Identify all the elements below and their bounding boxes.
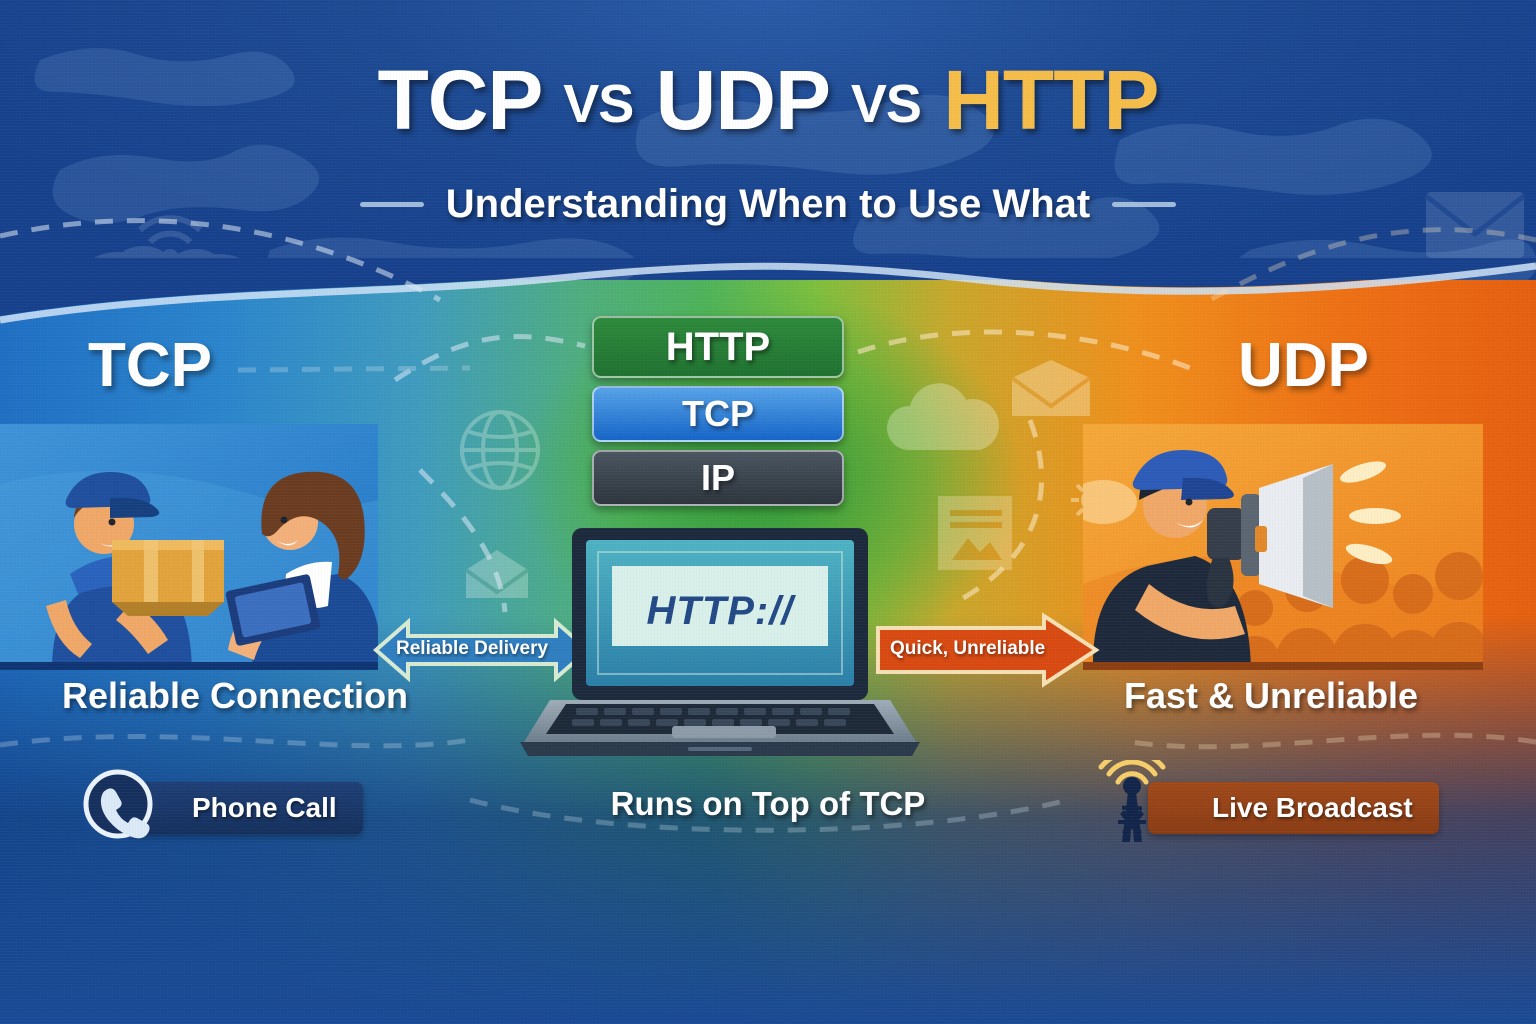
phone-call-badge-label: Phone Call <box>192 792 337 824</box>
subtitle-rule-left <box>360 202 424 207</box>
phone-icon <box>82 768 154 840</box>
title-vs-1: VS <box>563 74 633 134</box>
udp-panel-heading: UDP <box>1238 330 1369 401</box>
udp-zone-label: Fast & Unreliable <box>1124 675 1418 717</box>
title-part-tcp: TCP <box>377 53 540 147</box>
subtitle-rule-right <box>1112 202 1176 207</box>
laptop-illustration <box>520 528 920 760</box>
stack-layer-http[interactable]: HTTP <box>592 316 844 378</box>
tcp-zone-label: Reliable Connection <box>62 675 408 717</box>
globe-icon <box>455 405 545 495</box>
page-title: TCP VS UDP VS HTTP <box>0 52 1536 149</box>
megaphone-illustration <box>1083 424 1483 670</box>
protocol-stack: HTTP TCP IP <box>592 316 844 514</box>
title-vs-2: VS <box>851 74 921 134</box>
broadcast-tower-icon <box>1092 760 1172 844</box>
subtitle-row: Understanding When to Use What <box>0 182 1536 227</box>
infographic-canvas: TCP VS UDP VS HTTP Understanding When to… <box>0 0 1536 1024</box>
live-broadcast-badge[interactable]: Live Broadcast <box>1148 782 1439 834</box>
title-part-udp: UDP <box>656 53 829 147</box>
stack-layer-ip[interactable]: IP <box>592 450 844 506</box>
envelope-icon <box>1008 358 1094 424</box>
page-subtitle: Understanding When to Use What <box>446 182 1090 227</box>
stack-layer-tcp[interactable]: TCP <box>592 386 844 442</box>
tcp-panel-heading: TCP <box>88 330 212 401</box>
laptop-screen-url: HTTP:// <box>612 585 828 637</box>
cloud-icon <box>880 378 1010 460</box>
live-broadcast-badge-label: Live Broadcast <box>1212 792 1413 824</box>
title-part-http: HTTP <box>943 53 1158 147</box>
delivery-illustration <box>0 424 378 670</box>
phone-call-badge[interactable]: Phone Call <box>128 782 363 834</box>
document-icon <box>930 490 1022 576</box>
